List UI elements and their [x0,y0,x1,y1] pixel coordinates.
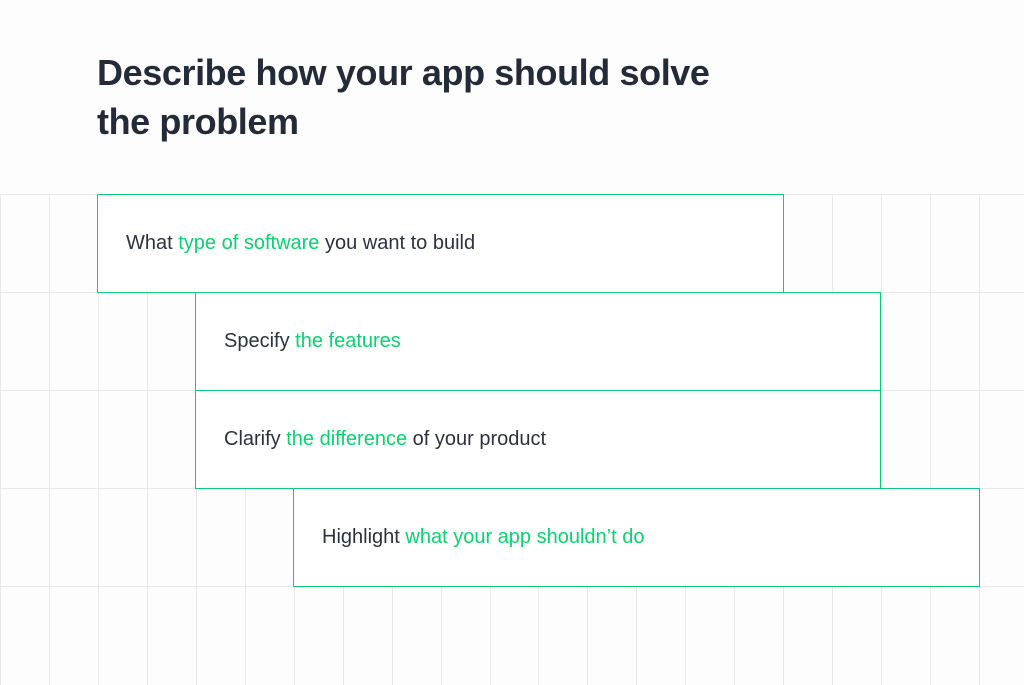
step-card-1-suffix: you want to build [319,232,475,254]
step-card-1-prefix: What [126,232,178,254]
grid-column-line [0,194,1,685]
step-card-3-suffix: of your product [407,428,546,450]
grid-column-line [881,194,882,685]
page-root: Describe how your app should solve the p… [0,0,1024,685]
grid-column-line [49,194,50,685]
step-card-2[interactable]: Specify the features [195,292,881,391]
step-card-4-text: Highlight what your app shouldn’t do [294,524,644,551]
step-card-1-text: What type of software you want to build [98,230,475,257]
step-card-4-highlight: what your app shouldn’t do [405,526,644,548]
step-card-3[interactable]: Clarify the difference of your product [195,390,881,489]
step-card-3-highlight: the difference [286,428,407,450]
step-card-2-prefix: Specify [224,330,295,352]
step-card-4[interactable]: Highlight what your app shouldn’t do [293,488,980,587]
step-card-1-highlight: type of software [178,232,319,254]
grid-column-line [979,194,980,685]
step-card-2-highlight: the features [295,330,401,352]
step-card-3-text: Clarify the difference of your product [196,426,546,453]
step-card-4-prefix: Highlight [322,526,405,548]
step-card-1[interactable]: What type of software you want to build [97,194,784,293]
page-title: Describe how your app should solve the p… [97,48,817,146]
step-card-3-prefix: Clarify [224,428,286,450]
grid-column-line [930,194,931,685]
step-card-2-text: Specify the features [196,328,401,355]
